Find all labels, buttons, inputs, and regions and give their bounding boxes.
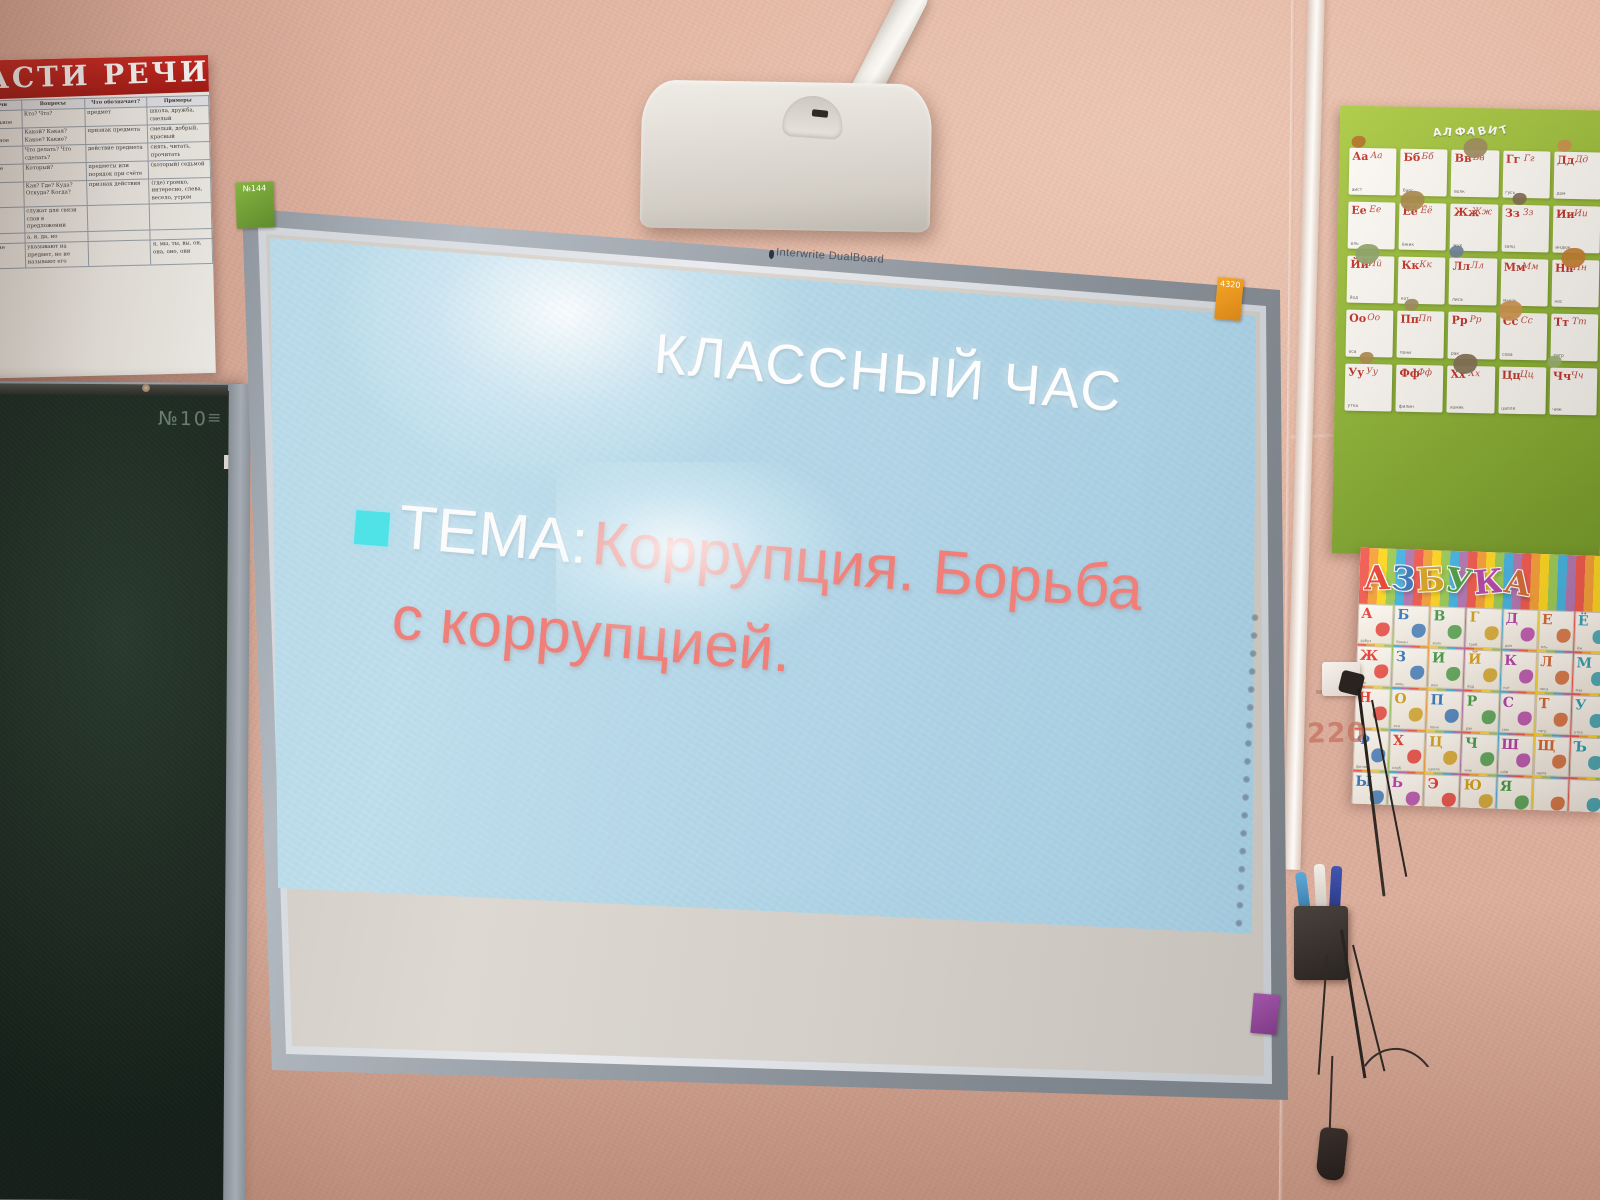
board-dot[interactable] [1238,866,1245,873]
chalkboard-screw [142,384,150,392]
poster-azbuka: АЗБУКА АарбузБбананВволкГгрибДдомЕельЁёж… [1352,548,1600,813]
slide-body: ТЕМА: Коррупция. Борьба с коррупцией. [346,488,1235,723]
stylus-pen-cluster[interactable] [1292,862,1372,982]
board-dot[interactable] [1251,614,1258,621]
poster-green-alphabet: АЛФАВИТ АаАааистБбБббарсВвВвволкГгГггусь… [1332,105,1600,558]
chalk-mark-number: №10 [158,408,208,430]
stylus-holder [1294,906,1348,980]
board-dot[interactable] [1244,758,1251,765]
board-dot[interactable] [1250,632,1257,639]
interactive-whiteboard[interactable]: КЛАССНЫЙ ЧАС ТЕМА: Коррупция. Борьба с к… [236,182,1294,1102]
board-dot[interactable] [1237,884,1244,891]
chalkboard-top-rail [0,383,228,396]
poster-azbuka-shading [1352,548,1600,813]
inventory-sticker-top-right: 4320 [1214,277,1244,321]
poster-parts-of-speech: ЧАСТИ РЕЧИ Часть речиВопросыЧто обознача… [0,55,216,379]
board-dot[interactable] [1241,812,1248,819]
board-dot[interactable] [1247,704,1254,711]
poster-green-shading [1332,105,1600,558]
board-dot[interactable] [1242,794,1249,801]
poster-shading [0,55,216,379]
voltage-label: 220 [1307,717,1367,749]
board-dot[interactable] [1240,830,1247,837]
board-dot[interactable] [1236,902,1243,909]
board-dot[interactable] [1245,740,1252,747]
cable-plug-on-string [1315,1127,1348,1182]
inventory-sticker-bottom-right [1250,993,1279,1035]
board-dot[interactable] [1239,848,1246,855]
inventory-sticker-top-left: №144 [235,181,275,228]
board-dot[interactable] [1243,776,1250,783]
board-dot[interactable] [1235,919,1242,926]
classroom-scene: ЧАСТИ РЕЧИ Часть речиВопросыЧто обознача… [0,0,1600,1200]
board-dot[interactable] [1248,686,1255,693]
slide-content: КЛАССНЫЙ ЧАС ТЕМА: Коррупция. Борьба с к… [247,252,1253,970]
board-dot[interactable] [1249,650,1256,657]
bullet-square-icon [354,510,390,547]
board-dot[interactable] [1246,722,1253,729]
slide-title: КЛАССНЫЙ ЧАС [607,317,1170,429]
chalk-mark-symbol: ≡ [207,408,221,428]
chalkboard-texture [0,389,231,1200]
board-dot[interactable] [1248,668,1255,675]
green-chalkboard[interactable] [0,389,231,1200]
slide-topic-label: ТЕМА: [397,493,591,578]
